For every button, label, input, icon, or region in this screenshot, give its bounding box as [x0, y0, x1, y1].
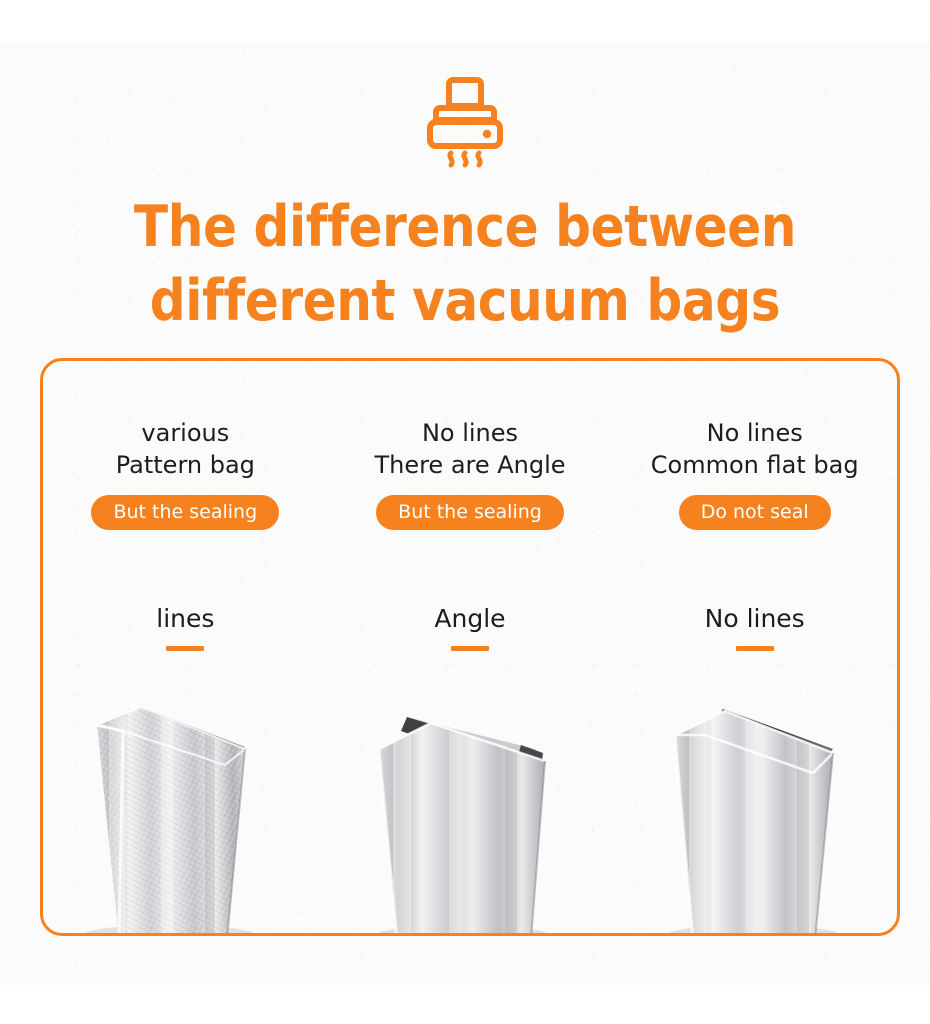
column-flat-bag: No lines Common flat bag Do not seal No …: [612, 361, 897, 933]
sealing-badge[interactable]: But the sealing: [91, 495, 279, 530]
feature-label: lines: [156, 604, 214, 634]
feature-underline-dash: [451, 646, 489, 651]
comparison-columns: various Pattern bag But the sealing line…: [43, 361, 897, 933]
comparison-card: various Pattern bag But the sealing line…: [40, 358, 900, 936]
vacuum-sealer-icon: [423, 74, 507, 170]
infographic-page: The difference between different vacuum …: [0, 0, 930, 1024]
feature-label: No lines: [705, 604, 805, 634]
column-heading: various Pattern bag: [116, 417, 255, 481]
column-heading: No lines There are Angle: [374, 417, 565, 481]
feature-underline-dash: [166, 646, 204, 651]
page-title: The difference between different vacuum …: [56, 190, 874, 338]
feature-underline-dash: [736, 646, 774, 651]
feature-label: Angle: [434, 604, 505, 634]
column-heading: No lines Common flat bag: [651, 417, 859, 481]
sealing-badge[interactable]: But the sealing: [376, 495, 564, 530]
sealing-badge[interactable]: Do not seal: [679, 495, 831, 530]
column-pattern-bag: various Pattern bag But the sealing line…: [43, 361, 328, 933]
column-angle-bag: No lines There are Angle But the sealing…: [328, 361, 613, 933]
